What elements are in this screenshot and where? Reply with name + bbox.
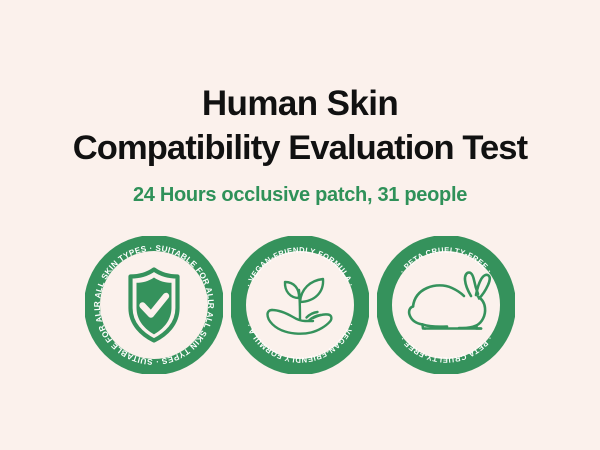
badge-vegan-friendly-formula: · VEGAN-FRIENDLY FORMULA · · VEGAN-FRIEN… — [231, 236, 369, 374]
page-title: Human Skin Compatibility Evaluation Test… — [0, 82, 600, 207]
title-line-1: Human Skin — [0, 82, 600, 126]
badge-peta-cruelty-free: · PETA CRUELTY-FREE · · PETA CRUELTY-FRE… — [377, 236, 515, 374]
page-subtitle: 24 Hours occlusive patch, 31 people — [0, 183, 600, 207]
badge-suitable-for-all-skin-types: SUITABLE FOR ALL SKIN TYPES · SUITABLE F… — [85, 236, 223, 374]
badge-inner-disc — [396, 255, 496, 355]
title-line-2: Compatibility Evaluation Test — [0, 126, 600, 170]
badge-row: SUITABLE FOR ALL SKIN TYPES · SUITABLE F… — [0, 236, 600, 374]
poster-canvas: Human Skin Compatibility Evaluation Test… — [0, 0, 600, 450]
